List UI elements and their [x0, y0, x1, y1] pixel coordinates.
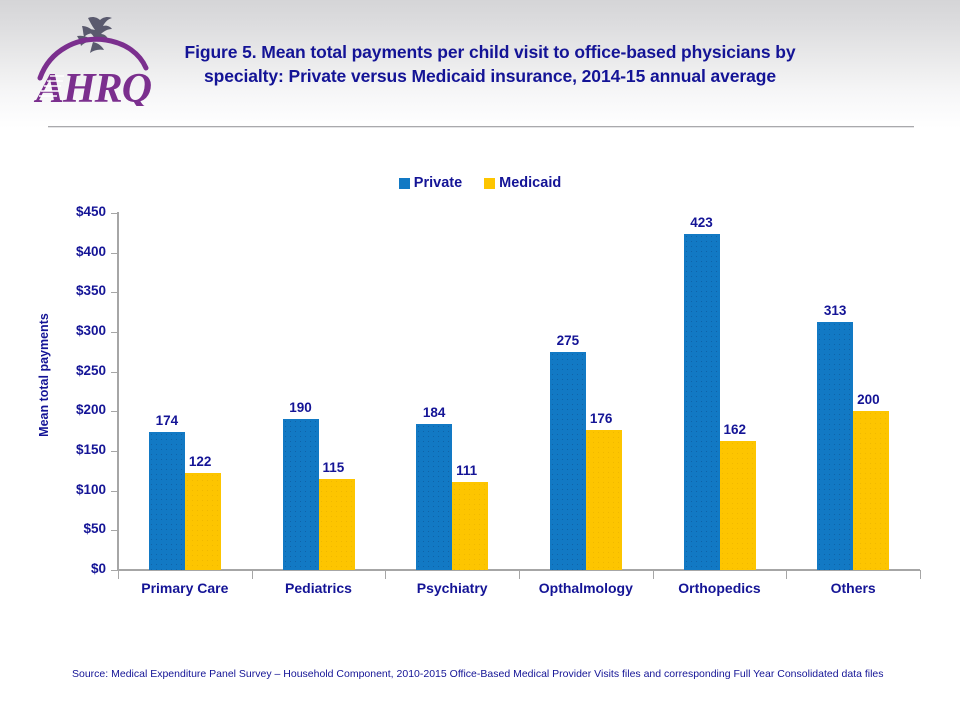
y-axis-tick	[111, 292, 118, 293]
y-axis-tick-label: $250	[44, 363, 106, 378]
bar-value-label: 184	[412, 405, 456, 420]
bar-value-label: 275	[546, 333, 590, 348]
y-axis-tick-label: $100	[44, 482, 106, 497]
bar-value-label: 190	[279, 400, 323, 415]
bar-group: 313200	[817, 213, 889, 570]
y-axis-tick-label: $200	[44, 402, 106, 417]
bar-value-label: 111	[456, 463, 496, 478]
legend-swatch-private	[399, 178, 410, 189]
bar-private[interactable]	[416, 424, 452, 570]
bar-value-label: 122	[189, 454, 229, 469]
bar-private[interactable]	[817, 322, 853, 570]
x-axis-separator	[519, 570, 520, 579]
x-axis-separator	[118, 570, 119, 579]
legend-swatch-medicaid	[484, 178, 495, 189]
y-axis-tick	[111, 332, 118, 333]
bar-medicaid[interactable]	[452, 482, 488, 570]
bar-medicaid[interactable]	[185, 473, 221, 570]
x-axis-category-label: Others	[786, 580, 920, 596]
y-axis-tick-label: $150	[44, 442, 106, 457]
y-axis-tick	[111, 213, 118, 214]
bar-private[interactable]	[149, 432, 185, 570]
bar-group: 184111	[416, 213, 488, 570]
ahrq-logo: AHRQ	[30, 6, 160, 106]
bar-group: 190115	[283, 213, 355, 570]
bar-group: 275176	[550, 213, 622, 570]
chart-legend: Private Medicaid	[0, 175, 960, 191]
y-axis-tick	[111, 253, 118, 254]
legend-label-private: Private	[414, 175, 462, 191]
bar-value-label: 423	[680, 215, 724, 230]
y-axis-tick	[111, 530, 118, 531]
plot-area: 174122190115184111275176423162313200	[118, 213, 920, 570]
y-axis-tick	[111, 372, 118, 373]
x-axis-category-label: Pediatrics	[252, 580, 386, 596]
x-axis-separator	[385, 570, 386, 579]
legend-item-private[interactable]: Private	[399, 175, 462, 191]
legend-item-medicaid[interactable]: Medicaid	[484, 175, 561, 191]
x-axis-category-label: Psychiatry	[385, 580, 519, 596]
y-axis-tick-label: $450	[44, 204, 106, 219]
y-axis-tick	[111, 411, 118, 412]
y-axis-tick-label: $0	[44, 561, 106, 576]
y-axis-tick-label: $50	[44, 521, 106, 536]
x-axis-category-label: Opthalmology	[519, 580, 653, 596]
y-axis-tick-label: $400	[44, 244, 106, 259]
y-axis-tick	[111, 491, 118, 492]
bar-private[interactable]	[684, 234, 720, 570]
page-header: AHRQ Figure 5. Mean total payments per c…	[0, 0, 960, 128]
y-axis-tick	[111, 451, 118, 452]
bar-value-label: 115	[323, 460, 363, 475]
hhs-eagle-icon	[77, 17, 112, 53]
bar-medicaid[interactable]	[720, 441, 756, 570]
bar-medicaid[interactable]	[586, 430, 622, 570]
x-axis-category-label: Primary Care	[118, 580, 252, 596]
bar-value-label: 313	[813, 303, 857, 318]
x-axis-separator	[786, 570, 787, 579]
bar-value-label: 200	[857, 392, 897, 407]
x-axis-separator	[653, 570, 654, 579]
y-axis-tick-label: $300	[44, 323, 106, 338]
bar-value-label: 162	[724, 422, 764, 437]
bar-medicaid[interactable]	[853, 411, 889, 570]
x-axis-separator	[920, 570, 921, 579]
x-axis-separator	[252, 570, 253, 579]
bar-group: 423162	[684, 213, 756, 570]
bar-value-label: 176	[590, 411, 630, 426]
bar-private[interactable]	[283, 419, 319, 570]
source-note: Source: Medical Expenditure Panel Survey…	[72, 668, 912, 682]
x-axis-category-label: Orthopedics	[653, 580, 787, 596]
chart-container: Private Medicaid Mean total payments $45…	[0, 128, 960, 658]
bar-private[interactable]	[550, 352, 586, 570]
legend-label-medicaid: Medicaid	[499, 175, 561, 191]
y-axis-tick	[111, 570, 118, 571]
y-axis-tick-label: $350	[44, 283, 106, 298]
bar-value-label: 174	[145, 413, 189, 428]
bar-medicaid[interactable]	[319, 479, 355, 570]
page-title: Figure 5. Mean total payments per child …	[170, 40, 810, 88]
bar-group: 174122	[149, 213, 221, 570]
